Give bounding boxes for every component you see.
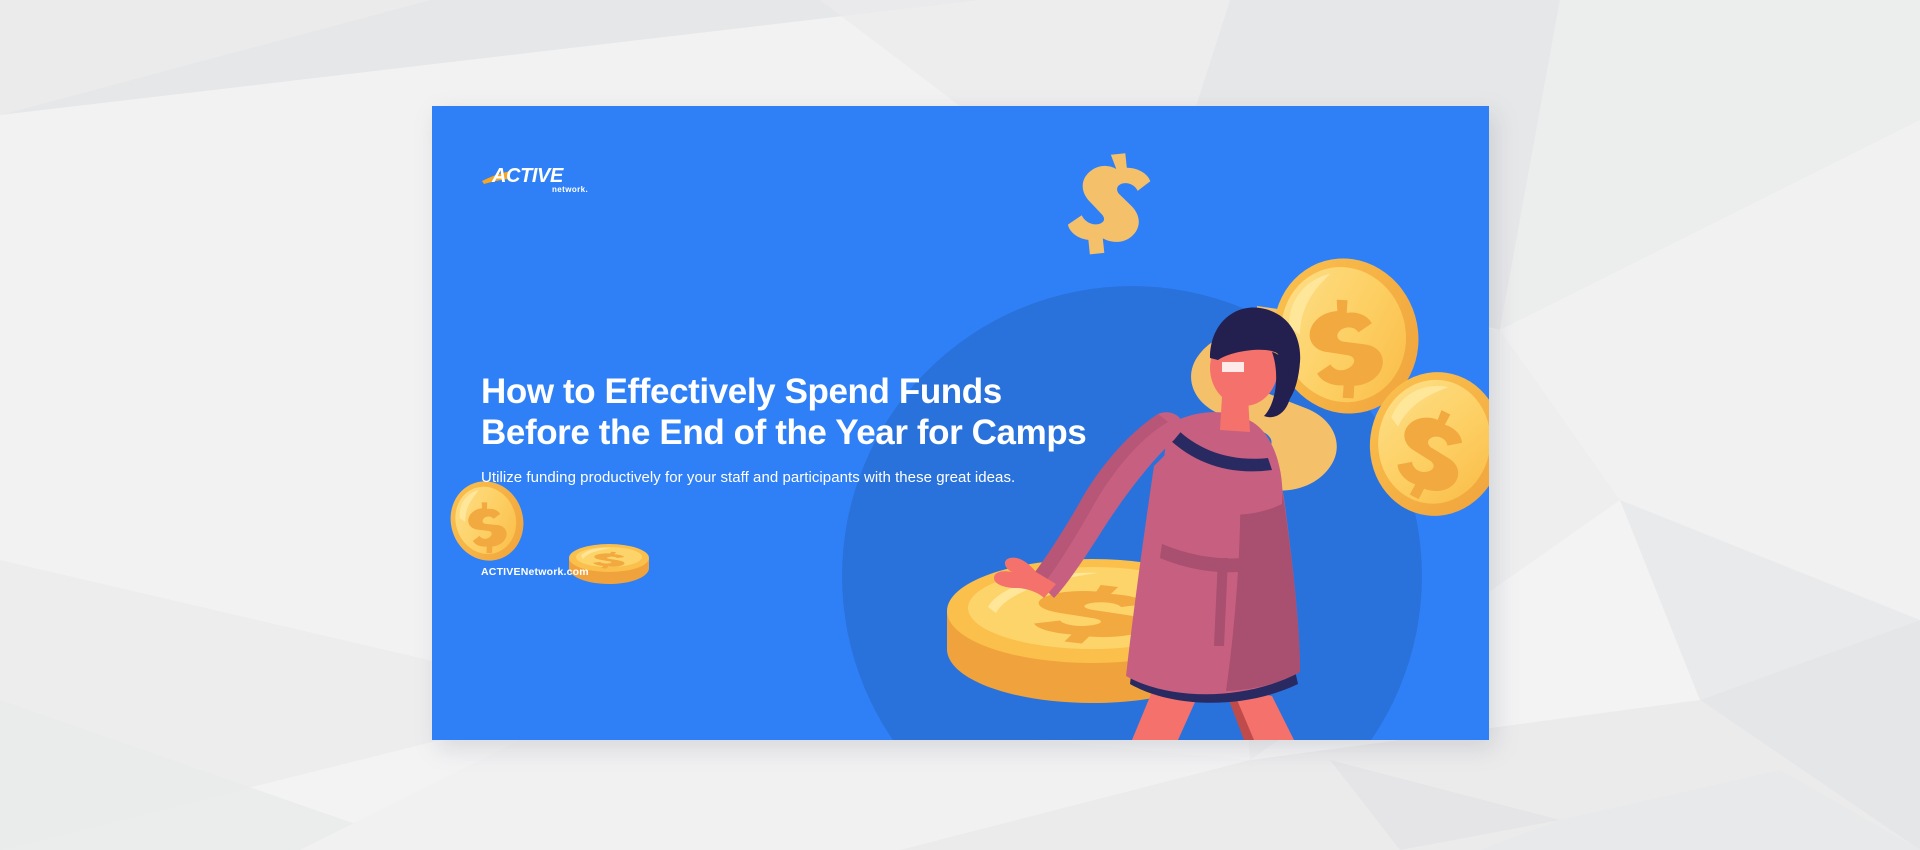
- dollar-sign-top-right: [1062, 144, 1155, 264]
- woman-sash-tie: [1214, 558, 1228, 646]
- woman-hem: [1130, 666, 1298, 703]
- coin-large-top: [1255, 241, 1436, 431]
- coin-flat-bottom: [947, 559, 1237, 703]
- slide-canvas[interactable]: ACTIVE network. How to Effectively Spend…: [432, 106, 1489, 740]
- active-network-logo[interactable]: ACTIVE network.: [480, 161, 606, 197]
- page-subtitle: Utilize funding productively for your st…: [481, 467, 1201, 489]
- logo-tagline: network.: [552, 185, 588, 194]
- woman-leg-back: [1222, 682, 1284, 740]
- woman-leg-front: [1132, 682, 1204, 740]
- woman-sash: [1160, 544, 1290, 572]
- woman-dress-shadow: [1226, 438, 1300, 691]
- page-title: How to Effectively Spend Funds Before th…: [481, 371, 1201, 453]
- woman-face: [1210, 330, 1278, 406]
- woman-face-highlight: [1222, 362, 1244, 372]
- slide-text-block: How to Effectively Spend Funds Before th…: [481, 371, 1201, 489]
- headline-line-1: How to Effectively Spend Funds: [481, 372, 1002, 411]
- accent-circle: [842, 286, 1422, 740]
- logo-wordmark: ACTIVE: [491, 165, 564, 187]
- woman-leg-front-2: [1232, 688, 1294, 740]
- screenshot-canvas: ACTIVE network. How to Effectively Spend…: [0, 0, 1920, 850]
- dollar-sign-right: [1185, 306, 1337, 522]
- coin-large-mid: [1361, 364, 1489, 525]
- woman-hair: [1210, 307, 1300, 410]
- woman-neck: [1220, 396, 1250, 432]
- woman-hand: [994, 558, 1056, 598]
- headline-line-2: Before the End of the Year for Camps: [481, 413, 1086, 452]
- woman-hair-side: [1264, 352, 1291, 417]
- footer-url[interactable]: ACTIVENetwork.com: [481, 566, 589, 578]
- coin-small-flat-left: [569, 544, 649, 584]
